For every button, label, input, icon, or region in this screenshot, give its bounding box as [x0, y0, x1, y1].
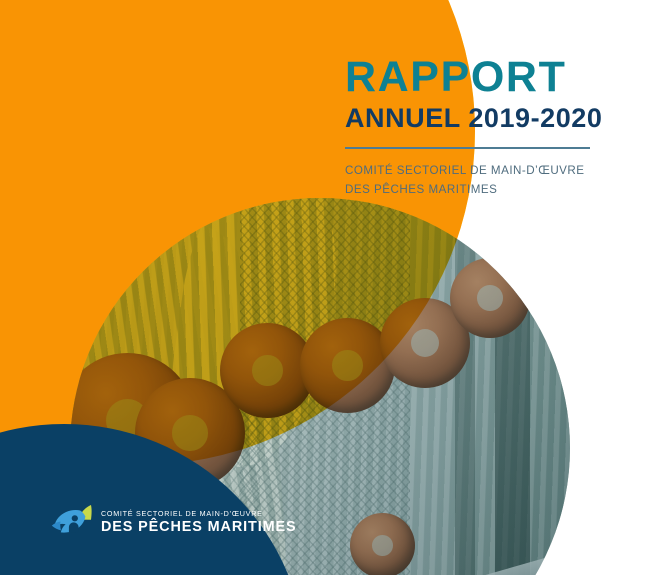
report-subtitle-year: ANNUEL 2019-2020 — [345, 103, 615, 133]
logo-line-1: COMITÉ SECTORIEL DE MAIN-D’ŒUVRE — [101, 510, 297, 517]
organization-name: COMITÉ SECTORIEL DE MAIN-D’ŒUVRE DES PÊC… — [345, 162, 615, 200]
cover-title-block: RAPPORT ANNUEL 2019-2020 COMITÉ SECTORIE… — [345, 56, 615, 200]
organization-logo: COMITÉ SECTORIEL DE MAIN-D’ŒUVRE DES PÊC… — [50, 502, 297, 542]
title-divider — [345, 147, 590, 149]
logo-line-2: DES PÊCHES MARITIMES — [101, 520, 297, 534]
report-cover: COMITÉ SECTORIEL DE MAIN-D’ŒUVRE DES PÊC… — [0, 0, 647, 575]
report-title: RAPPORT — [345, 56, 615, 100]
organization-name-line-2: DES PÊCHES MARITIMES — [345, 181, 615, 200]
logo-text-block: COMITÉ SECTORIEL DE MAIN-D’ŒUVRE DES PÊC… — [101, 510, 297, 535]
organization-name-line-1: COMITÉ SECTORIEL DE MAIN-D’ŒUVRE — [345, 162, 615, 181]
fish-logo-icon — [50, 502, 94, 542]
